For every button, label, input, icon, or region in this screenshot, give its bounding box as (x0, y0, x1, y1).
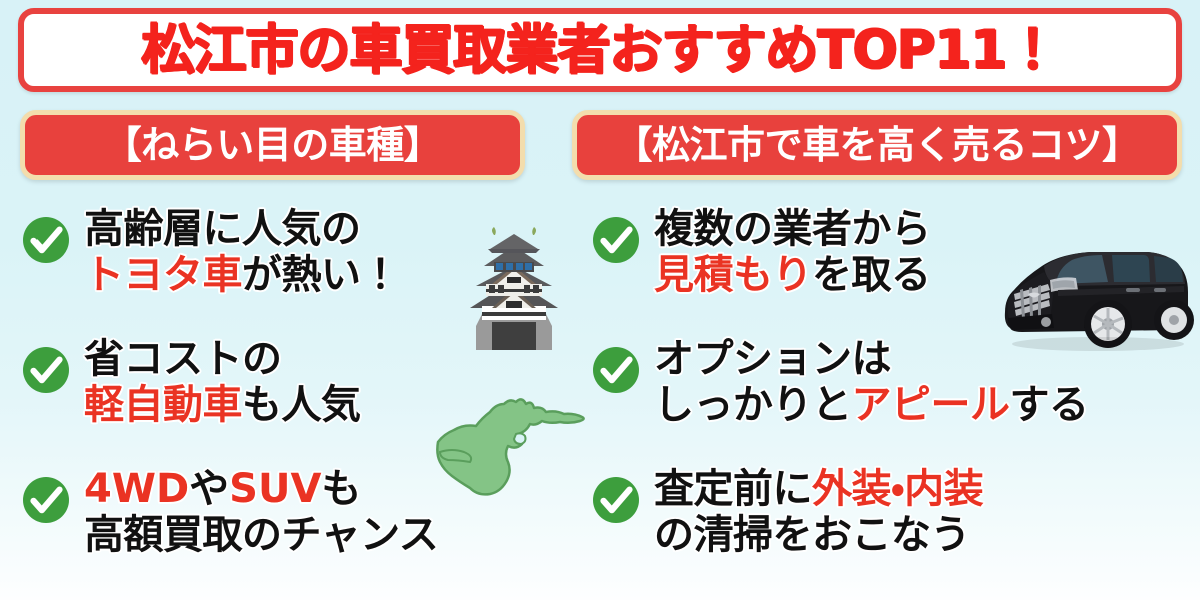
infographic-root: 松江市の車買取業者おすすめTOP11！ 【ねらい目の車種】 【松江市で車を高く売… (0, 0, 1200, 600)
plain-text: する (1010, 382, 1089, 428)
check-circle-icon (592, 476, 640, 524)
plain-text: 高齢層に人気の (84, 206, 361, 252)
highlighted-text: 軽自動車 (84, 382, 242, 428)
section-header-takaku-uru-kotsu: 【松江市で車を高く売るコツ】 (572, 110, 1182, 180)
highlighted-text: 見積もり (654, 252, 812, 298)
highlighted-text: トヨタ車 (84, 252, 242, 298)
list-item: 査定前に外装・内装の清掃をおこなう (578, 466, 1138, 559)
plain-text: や (189, 466, 229, 512)
check-circle-icon (22, 346, 70, 394)
plain-text: も人気 (242, 382, 361, 428)
check-circle-icon (22, 476, 70, 524)
shimane-prefecture-map-icon (430, 382, 590, 504)
plain-text: も (321, 466, 361, 512)
plain-text: を取る (812, 252, 931, 298)
highlighted-text: SUV (229, 466, 321, 512)
plain-text: 複数の業者から (654, 206, 931, 252)
list-item-line: 査定前に外装・内装 (654, 466, 1138, 512)
highlighted-text: アピール (852, 382, 1010, 428)
black-minivan-icon (998, 232, 1194, 356)
highlighted-text: 4WD (84, 466, 189, 512)
plain-text: しっかりと (654, 382, 852, 428)
section-header-nerai-me: 【ねらい目の車種】 (20, 110, 525, 180)
plain-text: の清掃をおこなう (654, 512, 970, 558)
plain-text: オプションは (654, 336, 891, 382)
page-title-banner: 松江市の車買取業者おすすめTOP11！ (18, 8, 1182, 92)
plain-text: 高額買取のチャンス (84, 512, 438, 558)
matsue-castle-icon (462, 222, 566, 350)
list-item-text: 査定前に外装・内装の清掃をおこなう (654, 466, 1138, 559)
list-item-line: 高額買取のチャンス (84, 512, 568, 558)
section-header-label: 【松江市で車を高く売るコツ】 (614, 126, 1139, 164)
list-item-line: の清掃をおこなう (654, 512, 1138, 558)
plain-text: 省コストの (84, 336, 282, 382)
plain-text: が熱い！ (242, 252, 400, 298)
check-circle-icon (22, 216, 70, 264)
check-circle-icon (592, 346, 640, 394)
list-item-line: しっかりとアピールする (654, 382, 1138, 428)
highlighted-text: 外装・内装 (812, 466, 983, 512)
plain-text: 査定前に (654, 466, 812, 512)
section-header-label: 【ねらい目の車種】 (104, 126, 442, 164)
page-title: 松江市の車買取業者おすすめTOP11！ (142, 24, 1059, 77)
check-circle-icon (592, 216, 640, 264)
